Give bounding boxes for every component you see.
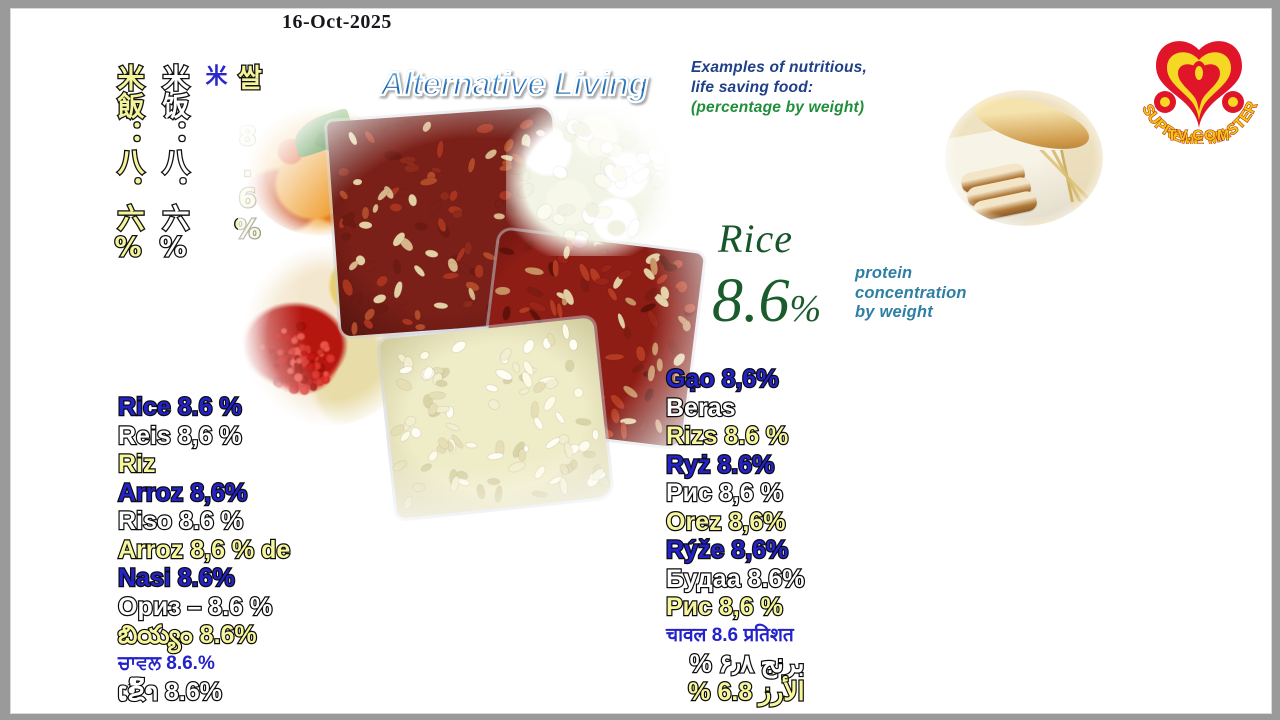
- food-name: Rice: [718, 215, 793, 262]
- rice-grain: [415, 222, 427, 230]
- rice-grain: [656, 358, 663, 371]
- rice-grain: [533, 110, 549, 127]
- language-row: Arroz 8,6 % de: [118, 536, 290, 565]
- rice-grain: [519, 387, 530, 395]
- language-row: Рис 8,6 %: [666, 593, 805, 622]
- rice-grain: [631, 165, 652, 185]
- slide-canvas: 16-Oct-2025 米飯：八．六% 米饭：八．六% 米 쌀 8.6% Alt…: [10, 8, 1272, 714]
- rice-grain: [488, 452, 503, 460]
- rice-grain: [488, 479, 500, 485]
- protein-annotation: protein concentration by weight: [855, 264, 967, 323]
- pomegranate-seed: [296, 322, 306, 332]
- rice-grain: [600, 264, 613, 275]
- rice-grain: [533, 464, 547, 480]
- rice-grain: [487, 398, 501, 411]
- rice-grain: [440, 192, 450, 200]
- rice-grain: [516, 234, 534, 248]
- rice-grain: [434, 302, 448, 309]
- rice-grain: [682, 320, 691, 331]
- pomegranate-seed: [316, 378, 324, 386]
- language-row: Beras: [666, 394, 805, 423]
- language-row: Ориз – 8.6 %: [118, 593, 290, 622]
- rice-grain: [452, 210, 463, 219]
- rice-grain: [646, 309, 660, 328]
- rice-grain: [395, 377, 414, 392]
- language-row: ເຂົ້າ 8.6%: [118, 678, 290, 707]
- pomegranate-seed: [276, 382, 282, 388]
- rice-grain: [419, 177, 437, 187]
- rice-grain: [393, 259, 402, 274]
- rice-grain: [575, 418, 590, 426]
- popcorn-image: [506, 106, 671, 256]
- rice-grain: [636, 346, 647, 362]
- white-rice-tray: [379, 317, 612, 518]
- language-row: Reis 8,6 %: [118, 422, 290, 451]
- rice-grain: [654, 418, 663, 433]
- slide-date: 16-Oct-2025: [282, 11, 392, 34]
- protein-annotation-line-3: by weight: [855, 303, 967, 323]
- language-row: బియ్యం 8.6%: [118, 621, 290, 650]
- language-row: الأرز 8.6 %: [666, 678, 805, 707]
- rice-grain: [341, 278, 355, 297]
- rice-grain: [475, 265, 484, 278]
- rice-grain: [531, 401, 539, 418]
- rice-grain: [362, 207, 369, 219]
- rice-grain: [625, 218, 641, 238]
- rice-grain: [526, 285, 544, 298]
- rice-grain: [519, 306, 531, 314]
- rice-grain: [476, 484, 486, 499]
- vertical-text-simplified-chinese: 米饭：八．六%: [159, 64, 187, 264]
- rice-grain: [656, 273, 670, 286]
- rice-grain: [399, 365, 413, 374]
- rice-grain: [532, 416, 544, 431]
- rice-grain: [448, 190, 459, 203]
- protein-percentage: 8.6%: [712, 266, 821, 337]
- rice-grain: [624, 296, 637, 307]
- rice-grain: [608, 221, 625, 235]
- caption-block: Examples of nutritious, life saving food…: [691, 58, 867, 118]
- bread-image: [945, 90, 1103, 226]
- rice-grain: [493, 213, 504, 219]
- rice-grain: [353, 178, 363, 185]
- rice-grain: [542, 395, 558, 413]
- rice-grain: [566, 360, 574, 372]
- rice-grain: [559, 477, 568, 494]
- pomegranate-seed: [323, 345, 330, 352]
- pomegranate-seed: [326, 354, 335, 363]
- rice-grain: [410, 427, 423, 440]
- pomegranate-seed: [288, 349, 295, 356]
- rice-grain: [435, 380, 447, 387]
- rice-grain: [508, 460, 527, 473]
- language-row: Arroz 8,6%: [118, 479, 290, 508]
- wheat-stalks: [1039, 150, 1097, 202]
- language-row: Будаа 8.6%: [666, 565, 805, 594]
- logo-text-line-2: TV.COM: [1168, 127, 1231, 144]
- rice-grain: [545, 378, 559, 390]
- rice-grain: [568, 339, 578, 351]
- rice-grain: [436, 141, 444, 158]
- rice-grain: [371, 203, 378, 213]
- pomegranate-seed: [307, 362, 315, 370]
- pomegranate-seed: [291, 337, 298, 344]
- language-list-right: Gạo 8,6%BerasRizs 8.6 %Ryż 8.6%Рис 8,6 %…: [666, 365, 805, 707]
- rice-grain: [515, 114, 532, 133]
- rice-grain: [664, 264, 677, 272]
- rice-grain: [552, 260, 559, 277]
- rice-grain: [511, 362, 520, 374]
- pomegranate-seed: [287, 368, 293, 374]
- language-row: Gạo 8,6%: [666, 365, 805, 394]
- rice-grain: [484, 147, 499, 160]
- rice-grain: [412, 263, 426, 278]
- rice-grain: [556, 303, 563, 319]
- rice-grain: [389, 203, 402, 212]
- rice-grain: [421, 120, 433, 133]
- rice-grain: [620, 422, 627, 440]
- rice-grain: [425, 249, 439, 258]
- rice-grain: [610, 408, 621, 424]
- protein-annotation-line-2: concentration: [855, 284, 967, 304]
- rice-grain: [638, 419, 649, 432]
- rice-grain: [393, 296, 409, 306]
- rice-collage-image: [238, 96, 718, 526]
- language-row: Rice 8.6 %: [118, 393, 290, 422]
- vertical-text-chinese-char: 米: [202, 64, 224, 87]
- language-row: Riso 8.6 %: [118, 507, 290, 536]
- rice-grain: [494, 486, 502, 502]
- rice-grain: [545, 436, 561, 450]
- language-row: برنج ۸٫۶ %: [666, 650, 805, 679]
- rice-grain: [339, 189, 350, 200]
- rice-grain: [467, 157, 476, 173]
- rice-grain: [495, 287, 510, 295]
- pomegranate-seed: [274, 332, 282, 340]
- rice-grain: [428, 450, 440, 463]
- rice-grain: [557, 203, 575, 216]
- rice-grain: [338, 167, 350, 177]
- language-row: ਚਾਵਲ 8.6.%: [118, 650, 290, 678]
- rice-grain: [415, 324, 425, 330]
- rice-grain: [466, 442, 477, 448]
- rice-grain: [619, 128, 640, 150]
- rice-grain: [392, 459, 409, 473]
- caption-line-1: Examples of nutritious,: [691, 58, 867, 78]
- rice-grain: [552, 165, 569, 181]
- pomegranate-seed: [260, 344, 265, 349]
- rice-grain: [363, 130, 376, 145]
- rice-grain: [521, 339, 535, 355]
- rice-grain: [401, 317, 414, 326]
- rice-grain: [340, 138, 350, 143]
- rice-grain: [595, 278, 609, 285]
- page-title: Alternative Living: [380, 65, 648, 103]
- rice-grain: [583, 451, 596, 458]
- language-row: Rýže 8,6%: [666, 536, 805, 565]
- language-row: Рис 8,6 %: [666, 479, 805, 508]
- rice-grain: [570, 459, 577, 469]
- pomegranate-seed: [297, 333, 304, 340]
- language-list-left: Rice 8.6 %Reis 8,6 %RizArroz 8,6%Riso 8.…: [118, 393, 290, 706]
- caption-line-3: (percentage by weight): [691, 98, 867, 118]
- logo-icon: SUPREME MASTER TV.COM: [1134, 32, 1264, 144]
- rice-grain: [516, 181, 536, 200]
- pomegranate-seed: [294, 373, 303, 382]
- language-row: चावल 8.6 प्रतिशत: [666, 622, 805, 650]
- rice-grain: [631, 111, 646, 125]
- rice-grain: [375, 274, 390, 289]
- rice-grain: [647, 365, 656, 382]
- language-row: Orez 8,6%: [666, 508, 805, 537]
- rice-grain: [428, 391, 445, 399]
- rice-grain: [652, 342, 659, 356]
- rice-grain: [351, 323, 358, 336]
- language-row: Ryż 8.6%: [666, 451, 805, 480]
- rice-grain: [622, 384, 640, 400]
- language-row: Nasi 8.6%: [118, 564, 290, 593]
- rice-grain: [403, 496, 413, 511]
- screen-frame: 16-Oct-2025 米飯：八．六% 米饭：八．六% 米 쌀 8.6% Alt…: [0, 0, 1280, 720]
- vertical-text-traditional-chinese: 米飯：八．六%: [114, 64, 142, 264]
- caption-line-2: life saving food:: [691, 78, 867, 98]
- rice-grain: [631, 364, 644, 374]
- rice-grain: [623, 326, 631, 338]
- pomegranate-seed: [300, 385, 309, 394]
- language-row: Rizs 8.6 %: [666, 422, 805, 451]
- rice-grain: [482, 250, 496, 261]
- rice-grain: [358, 221, 371, 229]
- rice-grain: [450, 339, 467, 355]
- rice-grain: [419, 350, 431, 361]
- percent-symbol: %: [790, 288, 822, 330]
- rice-grain: [420, 462, 433, 473]
- rice-grain: [379, 117, 391, 133]
- rice-grain: [531, 491, 547, 498]
- rice-grain: [485, 384, 498, 393]
- pomegranate-seed: [289, 384, 299, 394]
- rice-grain: [572, 386, 584, 398]
- rice-grain: [554, 411, 566, 425]
- protein-value: 8.6: [712, 267, 790, 335]
- rice-grain: [341, 232, 352, 241]
- protein-annotation-line-1: protein: [855, 264, 967, 284]
- supreme-master-tv-logo[interactable]: SUPREME MASTER TV.COM: [1134, 32, 1264, 144]
- rice-grain: [475, 122, 493, 134]
- rice-grain: [429, 200, 442, 215]
- rice-grain: [412, 483, 425, 492]
- rice-grain: [644, 388, 655, 402]
- rice-grain: [445, 422, 460, 432]
- rice-grain: [415, 310, 422, 321]
- rice-grain: [407, 193, 418, 207]
- rice-grain: [455, 247, 467, 263]
- rice-grain: [557, 104, 569, 122]
- rice-grain: [524, 266, 543, 276]
- rice-grain: [502, 305, 512, 320]
- rice-grain: [561, 323, 570, 338]
- rice-grain: [518, 449, 526, 462]
- rice-grain: [604, 354, 623, 361]
- rice-grain: [593, 429, 599, 440]
- language-row: Riz: [118, 450, 290, 479]
- rice-grain: [395, 119, 411, 128]
